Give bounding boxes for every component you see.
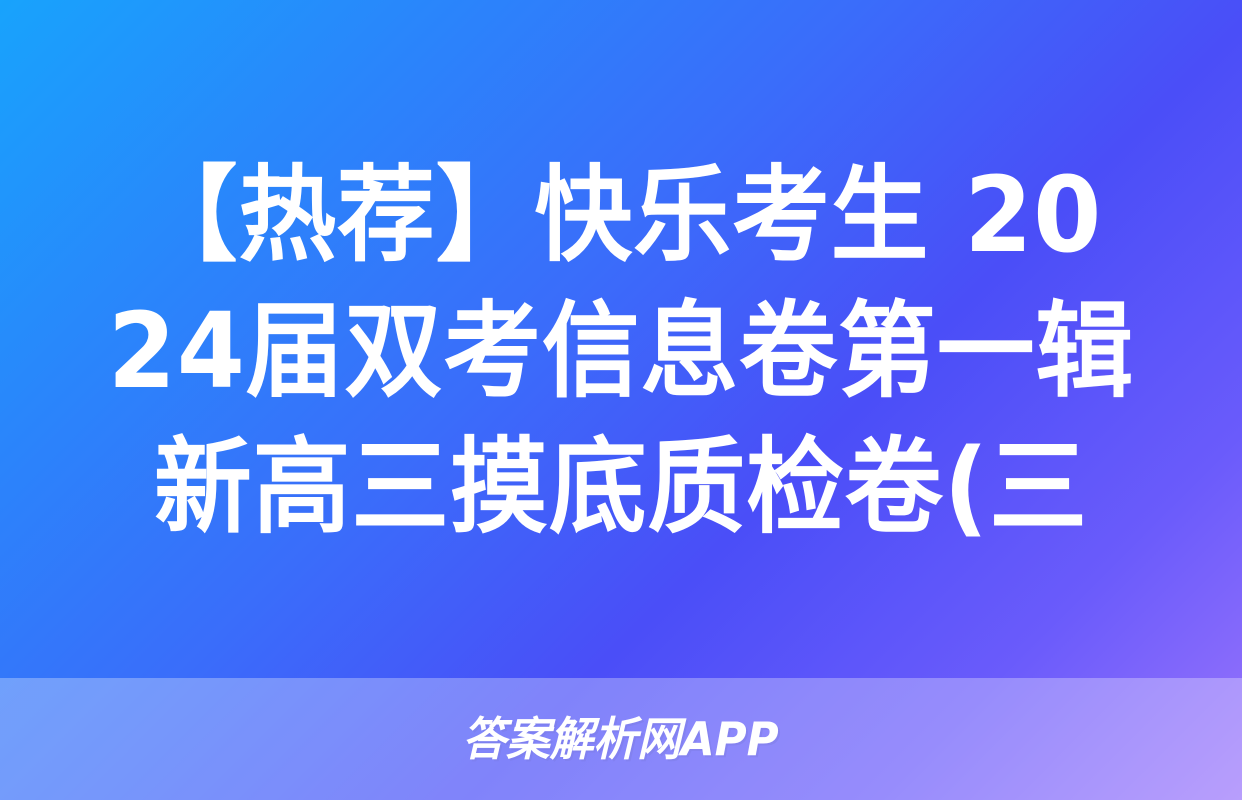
title-area: 【热荐】快乐考生 2024届双考信息卷第一辑 新高三摸底质检卷(三 <box>0 0 1242 678</box>
page-title: 【热荐】快乐考生 2024届双考信息卷第一辑 新高三摸底质检卷(三 <box>107 123 1135 555</box>
watermark-band: 答案解析网APP <box>0 678 1242 800</box>
poster-banner: 【热荐】快乐考生 2024届双考信息卷第一辑 新高三摸底质检卷(三 答案解析网A… <box>0 0 1242 800</box>
watermark-app-label: 答案解析网APP <box>463 716 779 762</box>
